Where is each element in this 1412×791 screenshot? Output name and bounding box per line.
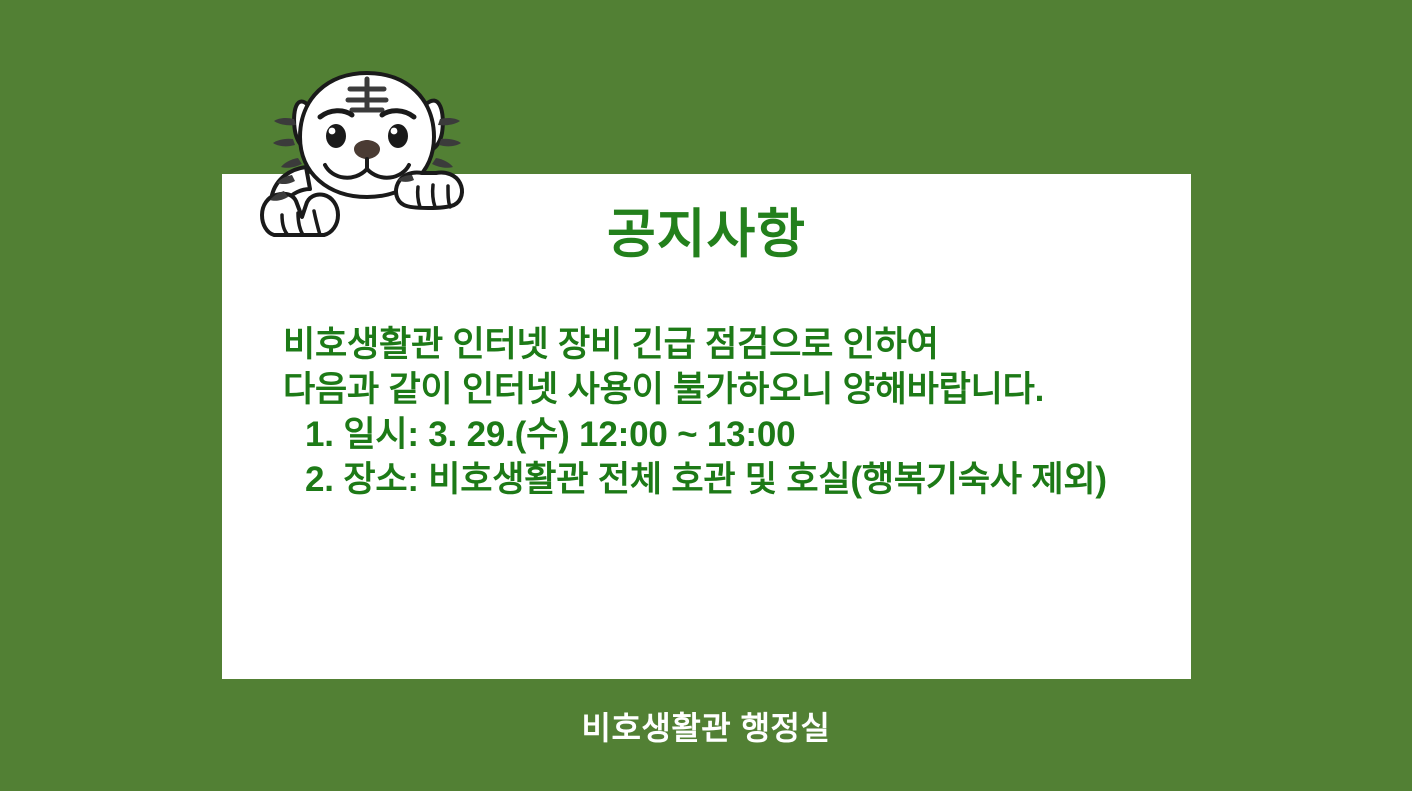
body-line-item-2: 2. 장소: 비호생활관 전체 호관 및 호실(행복기숙사 제외) (283, 457, 1183, 502)
notice-poster: 공지사항 비호생활관 인터넷 장비 긴급 점검으로 인하여 다음과 같이 인터넷… (0, 0, 1412, 791)
tiger-icon (262, 55, 472, 235)
body-line-item-1: 1. 일시: 3. 29.(수) 12:00 ~ 13:00 (283, 412, 1183, 457)
poster-footer: 비호생활관 행정실 (0, 703, 1412, 749)
notice-body: 비호생활관 인터넷 장비 긴급 점검으로 인하여 다음과 같이 인터넷 사용이 … (283, 322, 1183, 502)
notice-card: 공지사항 비호생활관 인터넷 장비 긴급 점검으로 인하여 다음과 같이 인터넷… (222, 174, 1191, 679)
body-line-2: 다음과 같이 인터넷 사용이 불가하오니 양해바랍니다. (283, 367, 1183, 412)
white-tiger-mascot (262, 55, 472, 235)
body-line-1: 비호생활관 인터넷 장비 긴급 점검으로 인하여 (283, 322, 1183, 367)
